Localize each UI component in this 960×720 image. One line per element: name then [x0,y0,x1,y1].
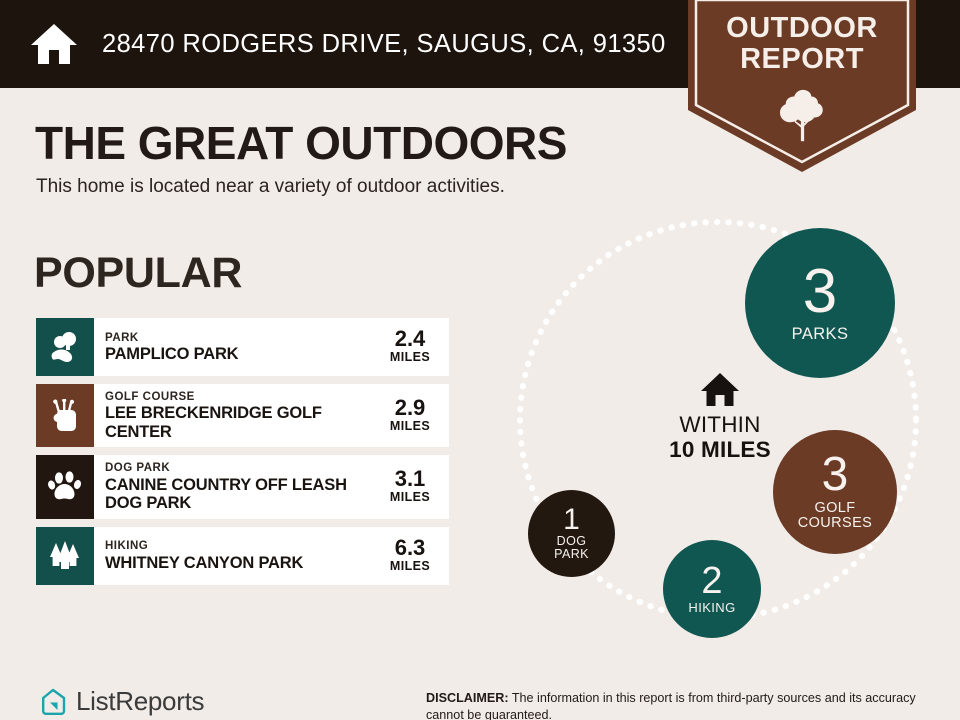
bubble-label: DOG PARK [554,535,589,562]
list-item-distance: 2.4 MILES [381,328,443,366]
bubble-label: GOLF COURSES [798,501,873,532]
outdoor-report-page: 28470 RODGERS DRIVE, SAUGUS, CA, 91350 O… [0,0,960,720]
list-item-distance: 3.1 MILES [381,468,443,506]
list-item-category: PARK [105,331,381,345]
list-item-category: HIKING [105,539,381,553]
distance-value: 3.1 [381,468,439,490]
list-item-name: CANINE COUNTRY OFF LEASH DOG PARK [105,476,381,513]
bubble-count: 2 [701,563,722,599]
center-line-1: WITHIN [630,413,810,437]
distance-unit: MILES [381,490,439,506]
paw-print-icon [36,455,94,518]
bubble-hiking[interactable]: 2 HIKING [663,540,761,638]
page-title: THE GREAT OUTDOORS [35,116,567,170]
diagram-center: WITHIN 10 MILES [630,372,810,462]
listreports-logo-text: ListReports [76,686,204,717]
disclaimer-label: DISCLAIMER: [426,691,509,705]
bubble-label-line-2: PARK [554,547,589,561]
page-subtitle: This home is located near a variety of o… [36,176,505,198]
distance-unit: MILES [381,350,439,366]
list-item[interactable]: HIKING WHITNEY CANYON PARK 6.3 MILES [36,527,449,585]
list-item[interactable]: GOLF COURSE LEE BRECKENRIDGE GOLF CENTER… [36,384,449,447]
park-trees-icon [36,318,94,376]
property-address: 28470 RODGERS DRIVE, SAUGUS, CA, 91350 [102,30,666,59]
distance-unit: MILES [381,419,439,435]
within-10-miles-diagram: 3 PARKS 3 GOLF COURSES 2 HIKING 1 DOG PA… [500,200,960,660]
list-item-category: GOLF COURSE [105,390,381,404]
list-item[interactable]: DOG PARK CANINE COUNTRY OFF LEASH DOG PA… [36,455,449,518]
distance-value: 2.4 [381,328,439,350]
bubble-label-line-1: GOLF [814,500,855,516]
distance-value: 2.9 [381,397,439,419]
home-icon [630,372,810,408]
bubble-parks[interactable]: 3 PARKS [745,228,895,378]
list-item-distance: 2.9 MILES [381,397,443,435]
outdoor-report-banner: OUTDOOR REPORT [688,0,916,172]
bubble-count: 1 [563,506,580,535]
center-line-2: 10 MILES [630,437,810,462]
popular-list: PARK PAMPLICO PARK 2.4 MILES [36,318,449,593]
list-item-name: WHITNEY CANYON PARK [105,554,381,572]
pine-trees-icon [36,527,94,585]
home-icon [0,22,78,66]
disclaimer: DISCLAIMER: The information in this repo… [426,690,948,720]
bubble-dog-park[interactable]: 1 DOG PARK [528,490,615,577]
list-item-name: LEE BRECKENRIDGE GOLF CENTER [105,404,381,441]
bubble-label-line-2: COURSES [798,515,873,531]
listreports-house-tag-icon [38,687,68,717]
golf-bag-icon [36,384,94,447]
bubble-label: HIKING [688,601,735,615]
list-item-distance: 6.3 MILES [381,537,443,575]
bubble-count: 3 [822,452,849,498]
list-item[interactable]: PARK PAMPLICO PARK 2.4 MILES [36,318,449,376]
popular-heading: POPULAR [34,249,242,298]
bubble-label: PARKS [792,326,849,343]
listreports-logo[interactable]: ListReports [38,686,204,717]
distance-value: 6.3 [381,537,439,559]
distance-unit: MILES [381,559,439,575]
bubble-count: 3 [803,263,837,322]
list-item-name: PAMPLICO PARK [105,345,381,363]
list-item-category: DOG PARK [105,461,381,475]
banner-shape [688,0,916,172]
bubble-label-line-1: DOG [557,534,587,548]
